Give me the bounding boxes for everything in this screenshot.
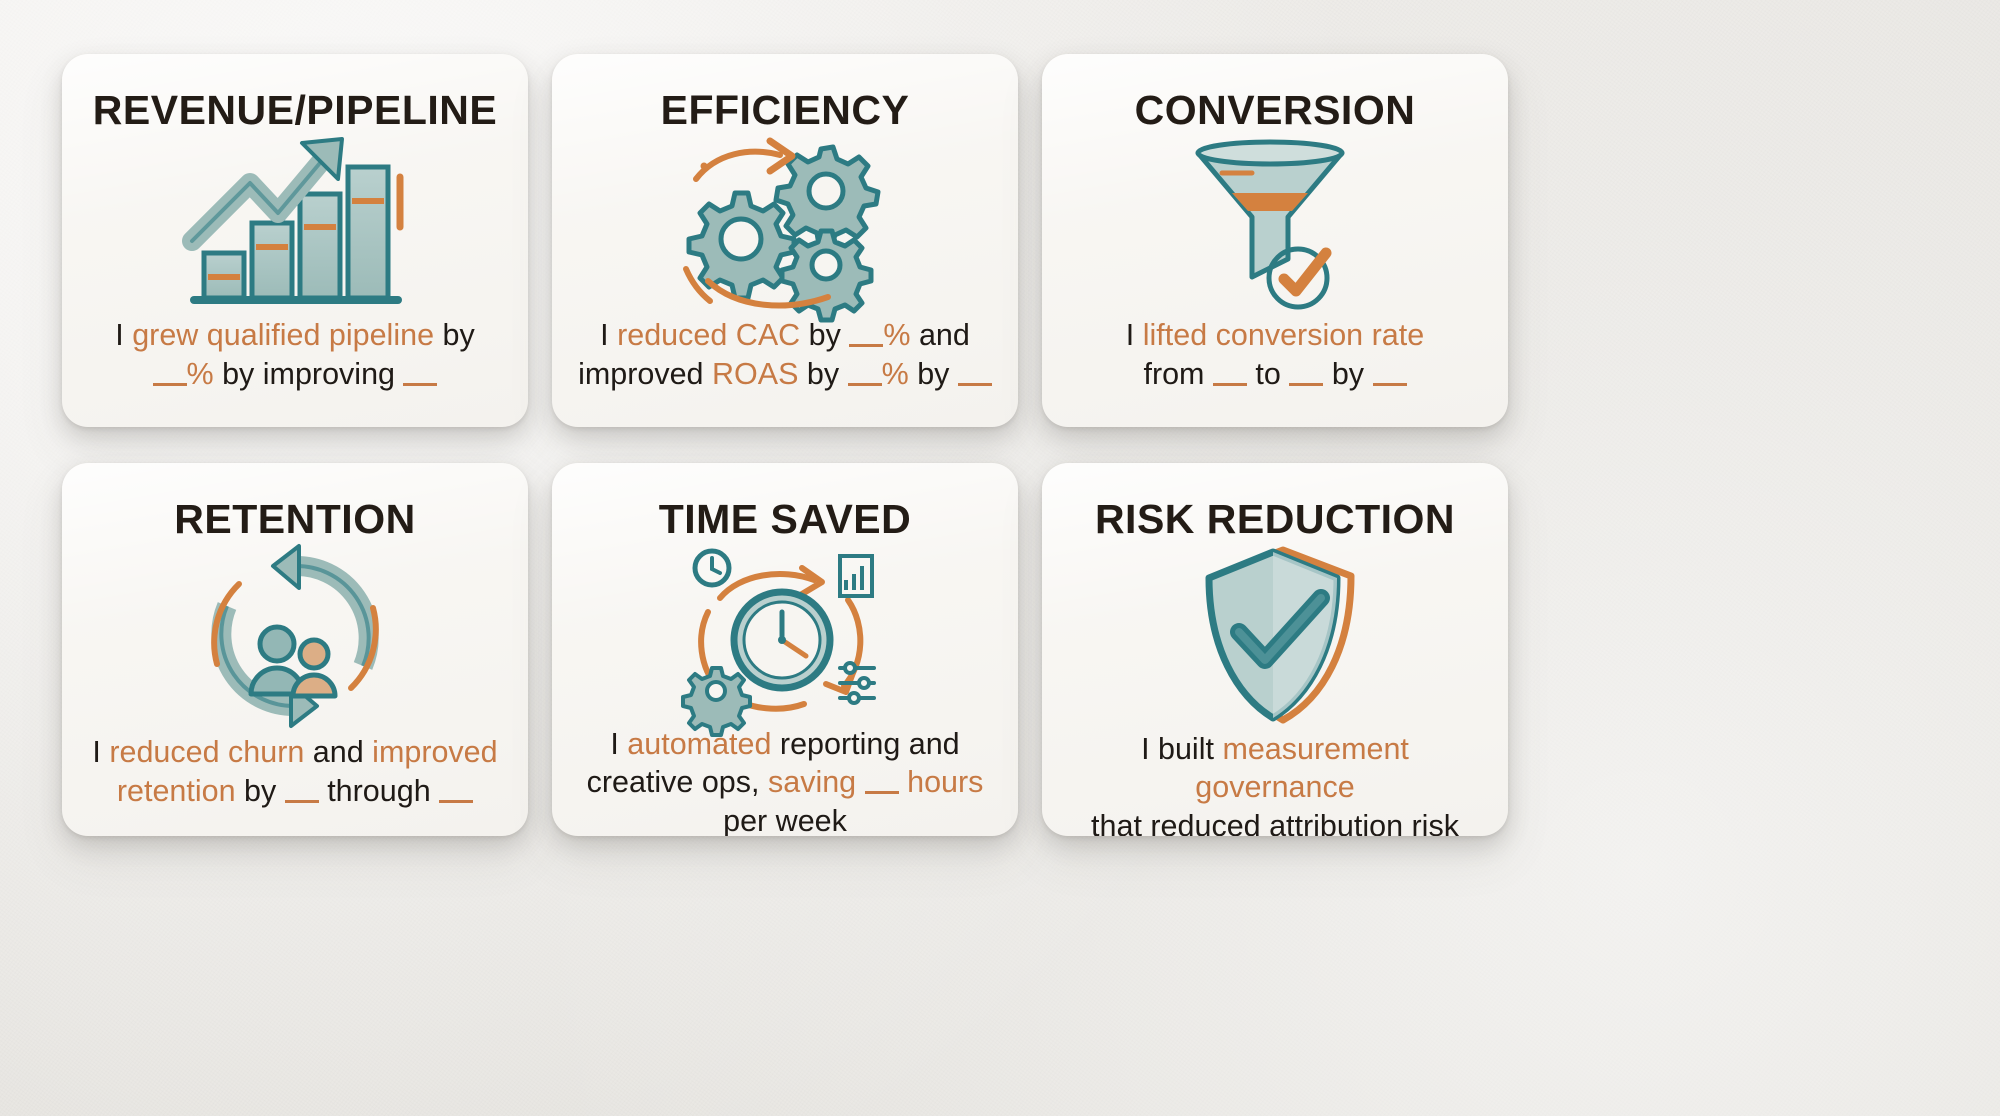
caption-plain: per week [723, 804, 847, 836]
caption-line: per week [578, 802, 992, 836]
card-caption: I lifted conversion ratefrom to by [1042, 316, 1508, 393]
caption-highlight: automated [627, 727, 771, 761]
metric-card-grid: REVENUE/PIPELINE [62, 54, 1938, 1062]
caption-blank [849, 344, 883, 347]
caption-line: from to by [1068, 355, 1482, 393]
caption-plain: and [910, 318, 969, 352]
card-title: TIME SAVED [659, 499, 912, 540]
gears-with-arrows-icon [552, 131, 1018, 316]
caption-line: I reduced CAC by % and [578, 316, 992, 354]
caption-plain: by [800, 318, 849, 352]
card-caption: I reduced CAC by % andimproved ROAS by %… [552, 316, 1018, 393]
caption-highlight: % [187, 357, 214, 391]
card-caption: I reduced churn and improvedretention by… [62, 733, 528, 810]
caption-line: I automated reporting and [578, 725, 992, 763]
caption-line: I built measurement governance [1068, 730, 1482, 807]
caption-plain: by [236, 774, 285, 808]
caption-highlight: measurement governance [1195, 732, 1409, 804]
caption-highlight: improved [372, 735, 497, 769]
caption-line: I grew qualified pipeline by [88, 316, 502, 354]
caption-plain: improved [578, 357, 712, 391]
caption-blank [285, 800, 319, 803]
caption-blank [1213, 383, 1247, 386]
caption-line: I reduced churn and improved [88, 733, 502, 771]
card-revenue-pipeline[interactable]: REVENUE/PIPELINE [62, 54, 528, 427]
caption-blank [1289, 383, 1323, 386]
caption-plain: I [1126, 318, 1143, 352]
caption-plain: through [319, 774, 439, 808]
card-caption: I built measurement governancethat reduc… [1042, 730, 1508, 836]
recycle-arrows-with-people-icon [62, 540, 528, 733]
caption-plain: to [1247, 357, 1289, 391]
caption-plain: from [1143, 357, 1212, 391]
caption-blank [1373, 383, 1407, 386]
caption-line: % by improving [88, 355, 502, 393]
card-caption: I automated reporting andcreative ops, s… [552, 725, 1018, 836]
caption-plain: by [798, 357, 847, 391]
growth-bar-chart-arrow-icon [62, 131, 528, 316]
caption-plain: I built [1141, 732, 1222, 766]
caption-highlight: reduced churn [109, 735, 304, 769]
caption-blank [848, 383, 882, 386]
caption-line: retention by through [88, 772, 502, 810]
caption-highlight: saving [768, 765, 856, 799]
card-title: CONVERSION [1135, 90, 1416, 131]
card-title: RISK REDUCTION [1095, 499, 1455, 540]
clock-with-automation-arrows-icon [552, 540, 1018, 725]
caption-plain [899, 765, 907, 799]
card-retention[interactable]: RETENTION I reduced churn an [62, 463, 528, 836]
card-title: RETENTION [174, 499, 415, 540]
caption-plain: that reduced attribution risk [1091, 809, 1459, 836]
caption-highlight: % [882, 357, 909, 391]
caption-blank [958, 383, 992, 386]
caption-plain: by [909, 357, 958, 391]
card-title: REVENUE/PIPELINE [93, 90, 497, 131]
caption-plain: by improving [214, 357, 404, 391]
caption-line: improved ROAS by % by [578, 355, 992, 393]
caption-plain: I [92, 735, 109, 769]
caption-highlight: retention [117, 774, 236, 808]
caption-line: creative ops, saving hours [578, 763, 992, 801]
caption-highlight: ROAS [712, 357, 798, 391]
caption-plain: by [434, 318, 475, 352]
caption-plain: creative ops, [587, 765, 768, 799]
caption-highlight: % [883, 318, 910, 352]
caption-blank [153, 383, 187, 386]
caption-highlight: hours [907, 765, 983, 799]
caption-line: I lifted conversion rate [1068, 316, 1482, 354]
caption-blank [403, 383, 437, 386]
caption-plain: reporting and [771, 727, 959, 761]
caption-plain: I [115, 318, 132, 352]
funnel-with-check-icon [1042, 131, 1508, 316]
caption-plain: by [1323, 357, 1372, 391]
card-title: EFFICIENCY [661, 90, 910, 131]
shield-with-checkmark-icon [1042, 540, 1508, 730]
card-conversion[interactable]: CONVERSION I lifted conversion ratefrom … [1042, 54, 1508, 427]
caption-plain: I [610, 727, 627, 761]
caption-highlight: grew qualified pipeline [132, 318, 434, 352]
card-caption: I grew qualified pipeline by% by improvi… [62, 316, 528, 393]
caption-plain [856, 765, 864, 799]
caption-plain: and [304, 735, 372, 769]
caption-plain: I [600, 318, 617, 352]
card-time-saved[interactable]: TIME SAVED [552, 463, 1018, 836]
card-efficiency[interactable]: EFFICIENCY [552, 54, 1018, 427]
caption-line: that reduced attribution risk [1068, 807, 1482, 836]
caption-highlight: reduced CAC [617, 318, 800, 352]
caption-highlight: lifted conversion rate [1143, 318, 1424, 352]
caption-blank [439, 800, 473, 803]
caption-blank [865, 791, 899, 794]
card-risk-reduction[interactable]: RISK REDUCTION I built measurement gover… [1042, 463, 1508, 836]
